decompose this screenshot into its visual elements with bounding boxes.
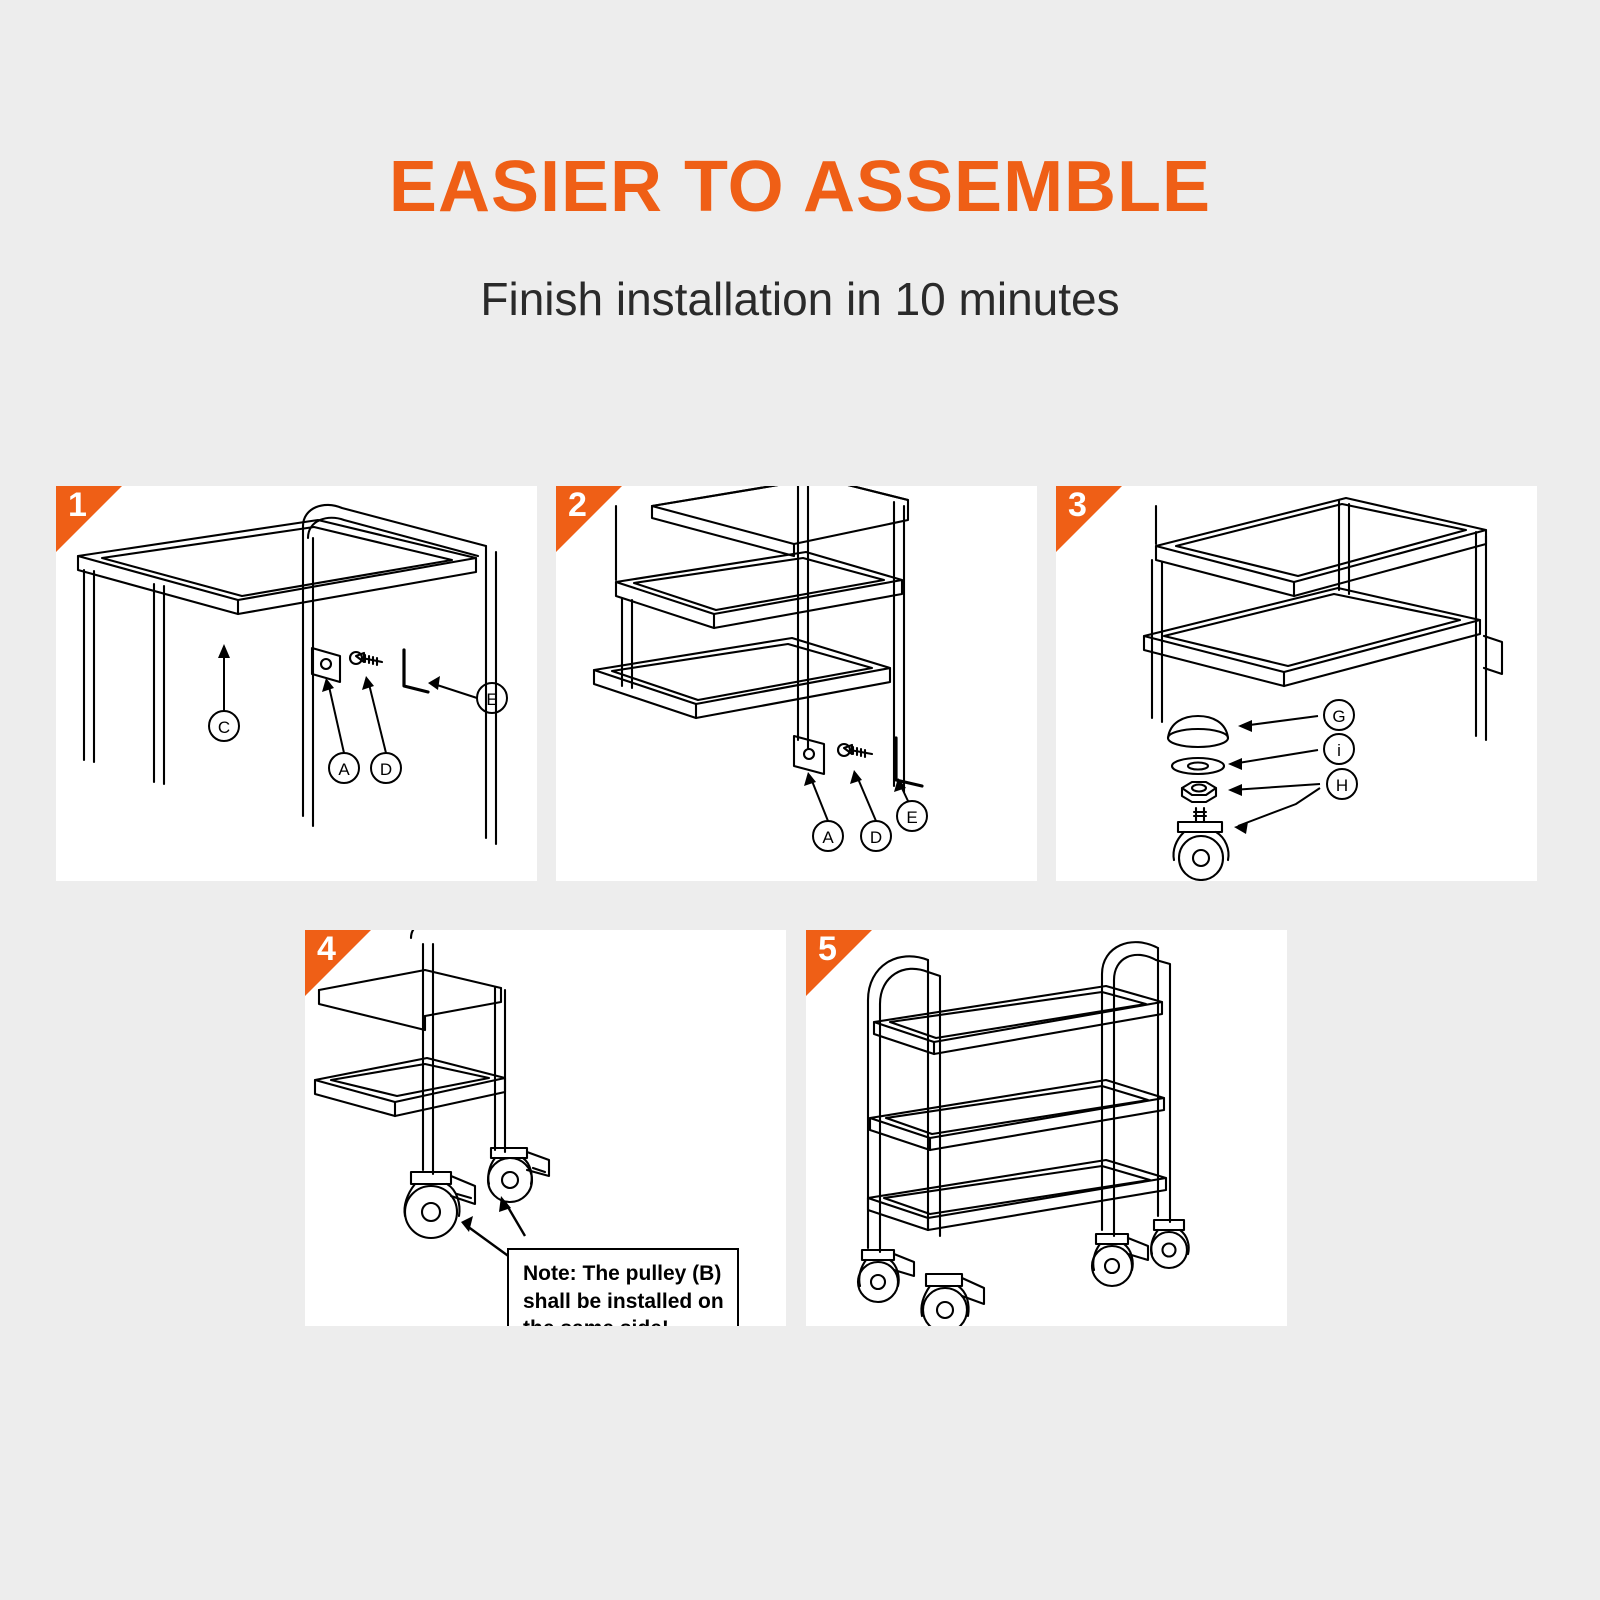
callout-label: G — [1332, 707, 1345, 726]
badge-triangle-icon — [556, 486, 622, 552]
callout-label: D — [870, 828, 882, 847]
step-badge-4: 4 — [305, 930, 371, 996]
callout-label: A — [822, 828, 834, 847]
step-panel-2: 2 — [556, 486, 1037, 881]
step-badge-1: 1 — [56, 486, 122, 552]
step-badge-5: 5 — [806, 930, 872, 996]
note-text: Note: The pulley (B) shall be installed … — [523, 1262, 724, 1326]
step-number: 5 — [818, 932, 837, 966]
step-panel-4: 4 — [305, 930, 786, 1326]
step-number: 1 — [68, 488, 87, 522]
step-panel-5: 5 — [806, 930, 1287, 1326]
callout-label: C — [218, 718, 230, 737]
note-box: Note: The pulley (B) shall be installed … — [507, 1248, 739, 1326]
callout-label: D — [380, 760, 392, 779]
step-number: 2 — [568, 488, 587, 522]
step-panel-1: 1 — [56, 486, 537, 881]
callout-label: E — [486, 690, 497, 709]
step-illustration-3: G i H — [1056, 486, 1537, 881]
step-badge-2: 2 — [556, 486, 622, 552]
step-illustration-2: A D E — [556, 486, 1037, 881]
callout-label: E — [906, 808, 917, 827]
page-title: EASIER TO ASSEMBLE — [0, 150, 1600, 226]
badge-triangle-icon — [806, 930, 872, 996]
badge-triangle-icon — [1056, 486, 1122, 552]
step-badge-3: 3 — [1056, 486, 1122, 552]
step-number: 3 — [1068, 488, 1087, 522]
badge-triangle-icon — [305, 930, 371, 996]
badge-triangle-icon — [56, 486, 122, 552]
step-illustration-1: C A D E — [56, 486, 537, 881]
callout-label: i — [1337, 741, 1341, 760]
step-number: 4 — [317, 932, 336, 966]
step-panel-3: 3 — [1056, 486, 1537, 881]
callout-label: A — [338, 760, 350, 779]
callout-label: H — [1336, 776, 1348, 795]
step-illustration-5 — [806, 930, 1287, 1326]
page-subtitle: Finish installation in 10 minutes — [0, 272, 1600, 326]
